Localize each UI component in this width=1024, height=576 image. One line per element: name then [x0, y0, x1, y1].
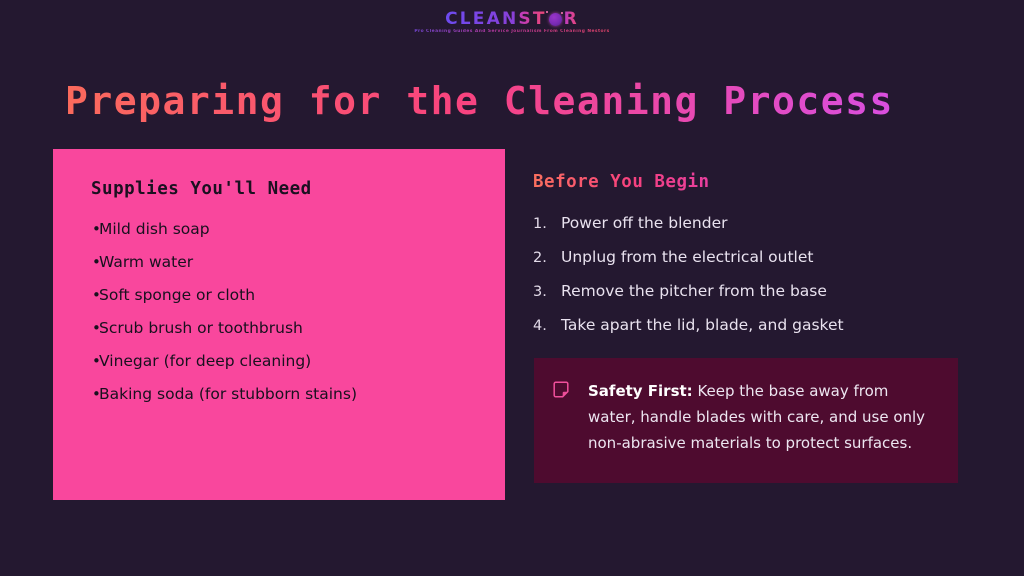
step-number: 4.	[533, 316, 561, 336]
list-item: 3. Remove the pitcher from the base	[533, 281, 953, 302]
list-item: • Baking soda (for stubborn stains)	[73, 384, 477, 404]
logo-wordmark: CLEAN ST R	[445, 11, 579, 28]
page-title: Preparing for the Cleaning Process	[65, 78, 894, 124]
before-you-begin-heading: Before You Begin	[533, 172, 710, 192]
brand-logo: CLEAN ST R Pro Cleaning Guides And Servi…	[0, 11, 1024, 34]
logo-text-clean: CLEAN	[445, 11, 518, 28]
list-item: • Soft sponge or cloth	[73, 285, 477, 305]
logo-orb-icon	[548, 12, 563, 27]
bullet-icon: •	[73, 252, 99, 272]
list-item-label: Vinegar (for deep cleaning)	[99, 351, 311, 371]
supplies-heading: Supplies You'll Need	[91, 179, 477, 199]
list-item: 4. Take apart the lid, blade, and gasket	[533, 315, 953, 336]
list-item: 2. Unplug from the electrical outlet	[533, 247, 953, 268]
bullet-icon: •	[73, 285, 99, 305]
logo-text-r: R	[564, 11, 579, 28]
sparkle-icon	[546, 11, 548, 13]
steps-list: 1. Power off the blender 2. Unplug from …	[533, 213, 953, 349]
logo-tagline: Pro Cleaning Guides And Service Journali…	[414, 29, 609, 34]
bullet-icon: •	[73, 219, 99, 239]
list-item-label: Baking soda (for stubborn stains)	[99, 384, 357, 404]
list-item: 1. Power off the blender	[533, 213, 953, 234]
orb-body	[549, 13, 562, 26]
supplies-card: Supplies You'll Need • Mild dish soap • …	[53, 149, 505, 500]
note-icon	[552, 381, 570, 399]
safety-callout-label: Safety First:	[588, 382, 693, 400]
supplies-list: • Mild dish soap • Warm water • Soft spo…	[73, 219, 477, 404]
step-number: 3.	[533, 282, 561, 302]
step-label: Power off the blender	[561, 213, 728, 233]
sparkle-icon	[561, 12, 563, 14]
bullet-icon: •	[73, 384, 99, 404]
list-item: • Mild dish soap	[73, 219, 477, 239]
step-label: Take apart the lid, blade, and gasket	[561, 315, 844, 335]
step-label: Unplug from the electrical outlet	[561, 247, 813, 267]
list-item-label: Warm water	[99, 252, 193, 272]
bullet-icon: •	[73, 351, 99, 371]
safety-callout-text: Safety First: Keep the base away from wa…	[588, 378, 936, 463]
list-item: • Warm water	[73, 252, 477, 272]
list-item-label: Soft sponge or cloth	[99, 285, 255, 305]
list-item: • Vinegar (for deep cleaning)	[73, 351, 477, 371]
list-item-label: Scrub brush or toothbrush	[99, 318, 303, 338]
step-number: 2.	[533, 248, 561, 268]
safety-callout: Safety First: Keep the base away from wa…	[534, 358, 958, 483]
list-item: • Scrub brush or toothbrush	[73, 318, 477, 338]
list-item-label: Mild dish soap	[99, 219, 210, 239]
step-label: Remove the pitcher from the base	[561, 281, 827, 301]
step-number: 1.	[533, 214, 561, 234]
bullet-icon: •	[73, 318, 99, 338]
logo-text-st: ST	[518, 11, 546, 28]
